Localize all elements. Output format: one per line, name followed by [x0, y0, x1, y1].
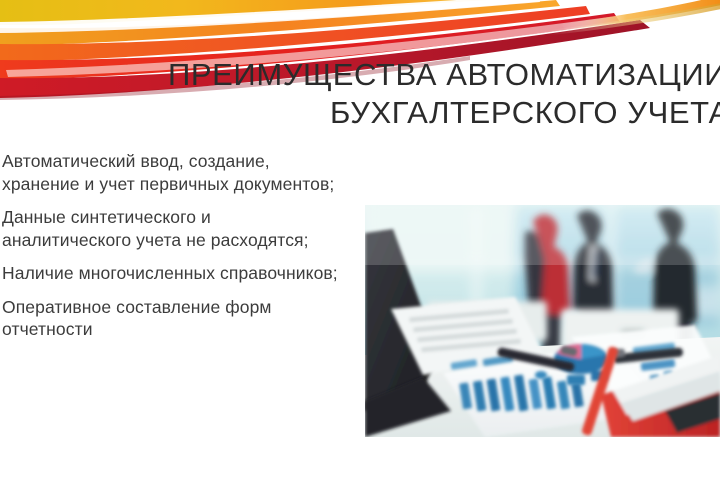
- body-paragraph-3: Наличие многочисленных справочников;: [2, 262, 342, 285]
- presentation-slide: ПРЕИМУЩЕСТВА АВТОМАТИЗАЦИИ БУХГАЛТЕРСКОГ…: [0, 0, 720, 480]
- title-line-1: ПРЕИМУЩЕСТВА АВТОМАТИЗАЦИИ: [168, 56, 720, 94]
- slide-body-text: Автоматический ввод, создание, хранение …: [2, 150, 342, 341]
- body-paragraph-4: Оперативное составление форм отчетности: [2, 296, 342, 341]
- body-paragraph-1: Автоматический ввод, создание, хранение …: [2, 150, 342, 195]
- slide-title: ПРЕИМУЩЕСТВА АВТОМАТИЗАЦИИ БУХГАЛТЕРСКОГ…: [168, 56, 720, 132]
- title-line-2: БУХГАЛТЕРСКОГО УЧЕТА: [168, 94, 720, 132]
- body-paragraph-2: Данные синтетического и аналитического у…: [2, 206, 342, 251]
- business-desk-photo: [365, 205, 720, 437]
